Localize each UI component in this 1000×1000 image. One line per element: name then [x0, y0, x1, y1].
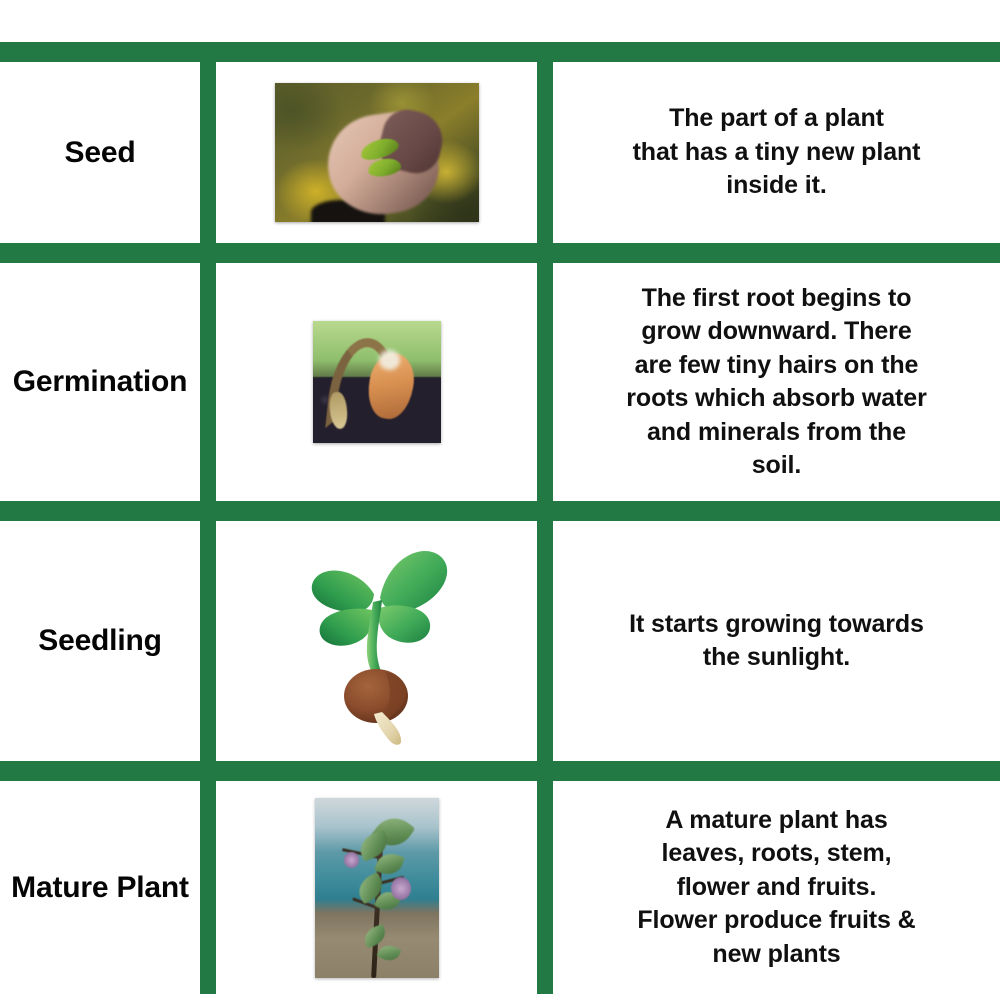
leaf-shape [319, 609, 372, 646]
image-cell-seed [216, 62, 537, 243]
column-divider [200, 781, 216, 994]
table-row: Germination The first root begins to gro… [0, 263, 1000, 501]
seedling-illustration [288, 536, 466, 746]
table-row: Mature Plant [0, 781, 1000, 994]
stage-cell-seed: Seed [0, 62, 200, 243]
column-divider [537, 263, 553, 501]
description-text: The first root begins to grow downward. … [612, 282, 940, 483]
leaf-shape [378, 605, 430, 642]
stage-label: Mature Plant [11, 870, 189, 905]
column-divider [537, 521, 553, 761]
flower-shape [391, 877, 411, 900]
description-text: A mature plant has leaves, roots, stem, … [623, 804, 929, 972]
germinating-seed-photo [313, 321, 441, 443]
stage-label: Seedling [38, 623, 161, 658]
table-row: Seed The part of a plant that has a tiny… [0, 62, 1000, 243]
mature-plant-photo [315, 798, 439, 978]
stage-cell-seedling: Seedling [0, 521, 200, 761]
plant-life-cycle-page: Seed The part of a plant that has a tiny… [0, 0, 1000, 1000]
row-divider [0, 243, 1000, 263]
plant-life-cycle-table: Seed The part of a plant that has a tiny… [0, 42, 1000, 994]
leaf-shape [376, 942, 401, 965]
image-cell-seedling [216, 521, 537, 761]
leaf-shape [380, 551, 447, 612]
description-cell-germination: The first root begins to grow downward. … [553, 263, 1000, 501]
seed-in-hand-photo [275, 83, 479, 222]
description-text: The part of a plant that has a tiny new … [619, 102, 935, 203]
description-cell-seedling: It starts growing towards the sunlight. [553, 521, 1000, 761]
flower-shape [344, 852, 359, 868]
table-top-border [0, 42, 1000, 62]
image-cell-mature-plant [216, 781, 537, 994]
image-cell-germination [216, 263, 537, 501]
stage-label: Germination [13, 364, 188, 399]
description-cell-mature-plant: A mature plant has leaves, roots, stem, … [553, 781, 1000, 994]
table-row: Seedling [0, 521, 1000, 761]
leaf-shape [311, 571, 373, 612]
column-divider [537, 62, 553, 243]
stage-cell-mature-plant: Mature Plant [0, 781, 200, 994]
description-text: It starts growing towards the sunlight. [615, 608, 938, 675]
seed-highlight [379, 350, 399, 370]
description-cell-seed: The part of a plant that has a tiny new … [553, 62, 1000, 243]
stage-cell-germination: Germination [0, 263, 200, 501]
row-divider [0, 501, 1000, 521]
column-divider [200, 521, 216, 761]
row-divider [0, 761, 1000, 781]
stage-label: Seed [65, 135, 136, 170]
column-divider [537, 781, 553, 994]
column-divider [200, 263, 216, 501]
leaf-shape [362, 924, 389, 948]
column-divider [200, 62, 216, 243]
